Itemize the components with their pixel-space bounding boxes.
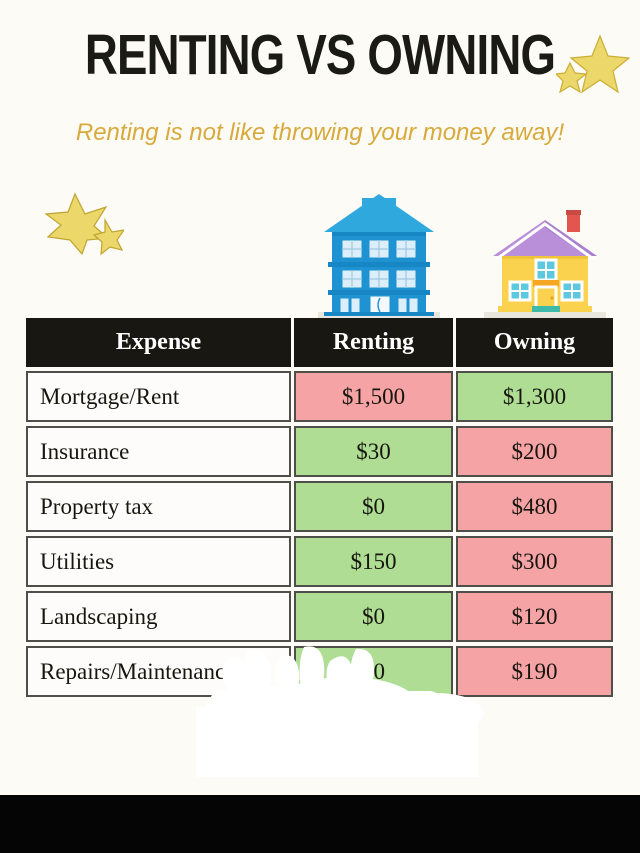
cell-expense: Landscaping [26,591,291,642]
cell-owning: $120 [456,591,613,642]
cell-renting: $0 [294,591,453,642]
infographic-page: RENTING VS OWNING Renting is not like th… [0,0,640,853]
table-row: Landscaping $0 $120 [26,591,613,642]
cell-owning: $190 [456,646,613,697]
table-row: Property tax $0 $480 [26,481,613,532]
star-icon [556,63,586,92]
cell-expense: Utilities [26,536,291,587]
table-row: Insurance $30 $200 [26,426,613,477]
star-decoration-top-right [556,30,630,96]
column-header-expense: Expense [26,318,291,367]
cell-expense: Repairs/Maintenance [26,646,291,697]
cell-owning: $300 [456,536,613,587]
cell-owning: $1,300 [456,371,613,422]
cell-renting: $0 [294,481,453,532]
cell-renting: $150 [294,536,453,587]
cell-owning: $200 [456,426,613,477]
bottom-bar [0,795,640,853]
cell-owning: $480 [456,481,613,532]
column-header-renting: Renting [294,318,453,367]
table-header-row: Expense Renting Owning [26,318,613,367]
table-row: Mortgage/Rent $1,500 $1,300 [26,371,613,422]
table-row: Utilities $150 $300 [26,536,613,587]
cell-expense: Property tax [26,481,291,532]
apartment-building-illustration [318,192,440,318]
cell-expense: Mortgage/Rent [26,371,291,422]
star-icon [94,220,124,254]
page-title: RENTING VS OWNING [64,24,576,86]
star-icon [46,194,108,254]
house-illustration [484,198,606,318]
page-subtitle: Renting is not like throwing your money … [0,118,640,148]
table-row: Repairs/Maintenance $0 $190 [26,646,613,697]
comparison-table: Expense Renting Owning Mortgage/Rent $1,… [26,318,613,697]
cell-renting: $1,500 [294,371,453,422]
cell-renting: $0 [294,646,453,697]
cell-expense: Insurance [26,426,291,477]
column-header-owning: Owning [456,318,613,367]
star-decoration-left [44,192,124,256]
star-icon [571,36,629,92]
cell-renting: $30 [294,426,453,477]
